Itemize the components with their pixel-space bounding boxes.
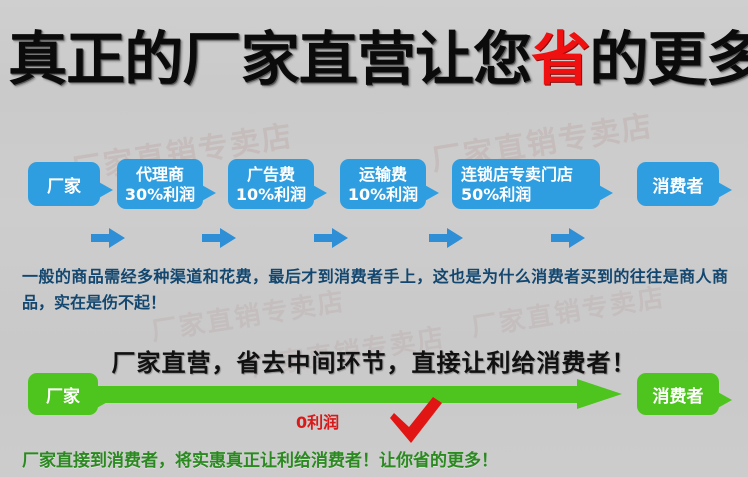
direct-node-label: 厂家 xyxy=(46,382,80,407)
bubble-tail-icon xyxy=(97,181,113,199)
chain-node-retail-store: 连锁店专卖门店 50%利润 xyxy=(452,159,600,209)
check-mark-icon xyxy=(388,396,444,446)
chain-arrow-5-icon xyxy=(551,228,585,248)
chain-arrow-2-icon xyxy=(202,228,236,248)
chain-node-sublabel: 50%利润 xyxy=(461,185,531,205)
chain-arrow-4-icon xyxy=(429,228,463,248)
direct-node-consumer: 消费者 xyxy=(637,373,719,415)
chain-node-label: 消费者 xyxy=(653,172,704,197)
bubble-tail-icon xyxy=(716,391,732,409)
bubble-tail-icon xyxy=(200,184,216,202)
chain-node-consumer: 消费者 xyxy=(637,162,719,206)
chain-node-label: 广告费 xyxy=(247,165,295,185)
footer-slogan: 厂家直接到消费者，将实惠真正让利给消费者！让你省的更多！ xyxy=(22,446,498,471)
page-title: 真正的厂家直营让您省的更多 xyxy=(8,28,748,90)
chain-node-advertising: 广告费 10%利润 xyxy=(228,159,314,209)
headline-highlight: 省 xyxy=(531,25,589,93)
chain-node-label: 厂家 xyxy=(47,172,81,197)
chain-node-sublabel: 30%利润 xyxy=(125,185,195,205)
chain-node-label: 连锁店专卖门店 xyxy=(461,165,573,185)
direct-flow-arrow-icon xyxy=(87,379,622,409)
bubble-tail-icon xyxy=(597,184,613,202)
direct-sale-heading: 厂家直营，省去中间环节，直接让利给消费者！ xyxy=(0,343,748,378)
chain-arrow-1-icon xyxy=(91,228,125,248)
explanation-paragraph: 一般的商品需经多种渠道和花费，最后才到消费者手上，这也是为什么消费者买到的往往是… xyxy=(22,264,728,316)
bubble-tail-icon xyxy=(423,184,439,202)
bubble-tail-icon xyxy=(716,181,732,199)
chain-node-manufacturer: 厂家 xyxy=(28,162,100,206)
direct-node-label: 消费者 xyxy=(653,382,704,407)
chain-node-sublabel: 10%利润 xyxy=(236,185,306,205)
headline-text-before: 真正的厂家直营让您 xyxy=(8,25,531,93)
chain-node-label: 运输费 xyxy=(359,165,407,185)
chain-node-shipping: 运输费 10%利润 xyxy=(340,159,426,209)
promo-banner: 厂家直销专卖店 厂家直销专卖店 厂家直销专卖店 厂家直销专卖店 厂家直销专卖店 … xyxy=(0,0,748,477)
chain-node-agent: 代理商 30%利润 xyxy=(117,159,203,209)
distribution-chain: 厂家 代理商 30%利润 广告费 10%利润 运输费 10%利润 连锁店专卖门店… xyxy=(0,156,748,212)
chain-node-sublabel: 10%利润 xyxy=(348,185,418,205)
chain-arrow-3-icon xyxy=(314,228,348,248)
headline-text-after: 的更多 xyxy=(589,25,748,93)
chain-node-label: 代理商 xyxy=(136,165,184,185)
bubble-tail-icon xyxy=(311,184,327,202)
zero-profit-label: 0利润 xyxy=(296,409,339,433)
